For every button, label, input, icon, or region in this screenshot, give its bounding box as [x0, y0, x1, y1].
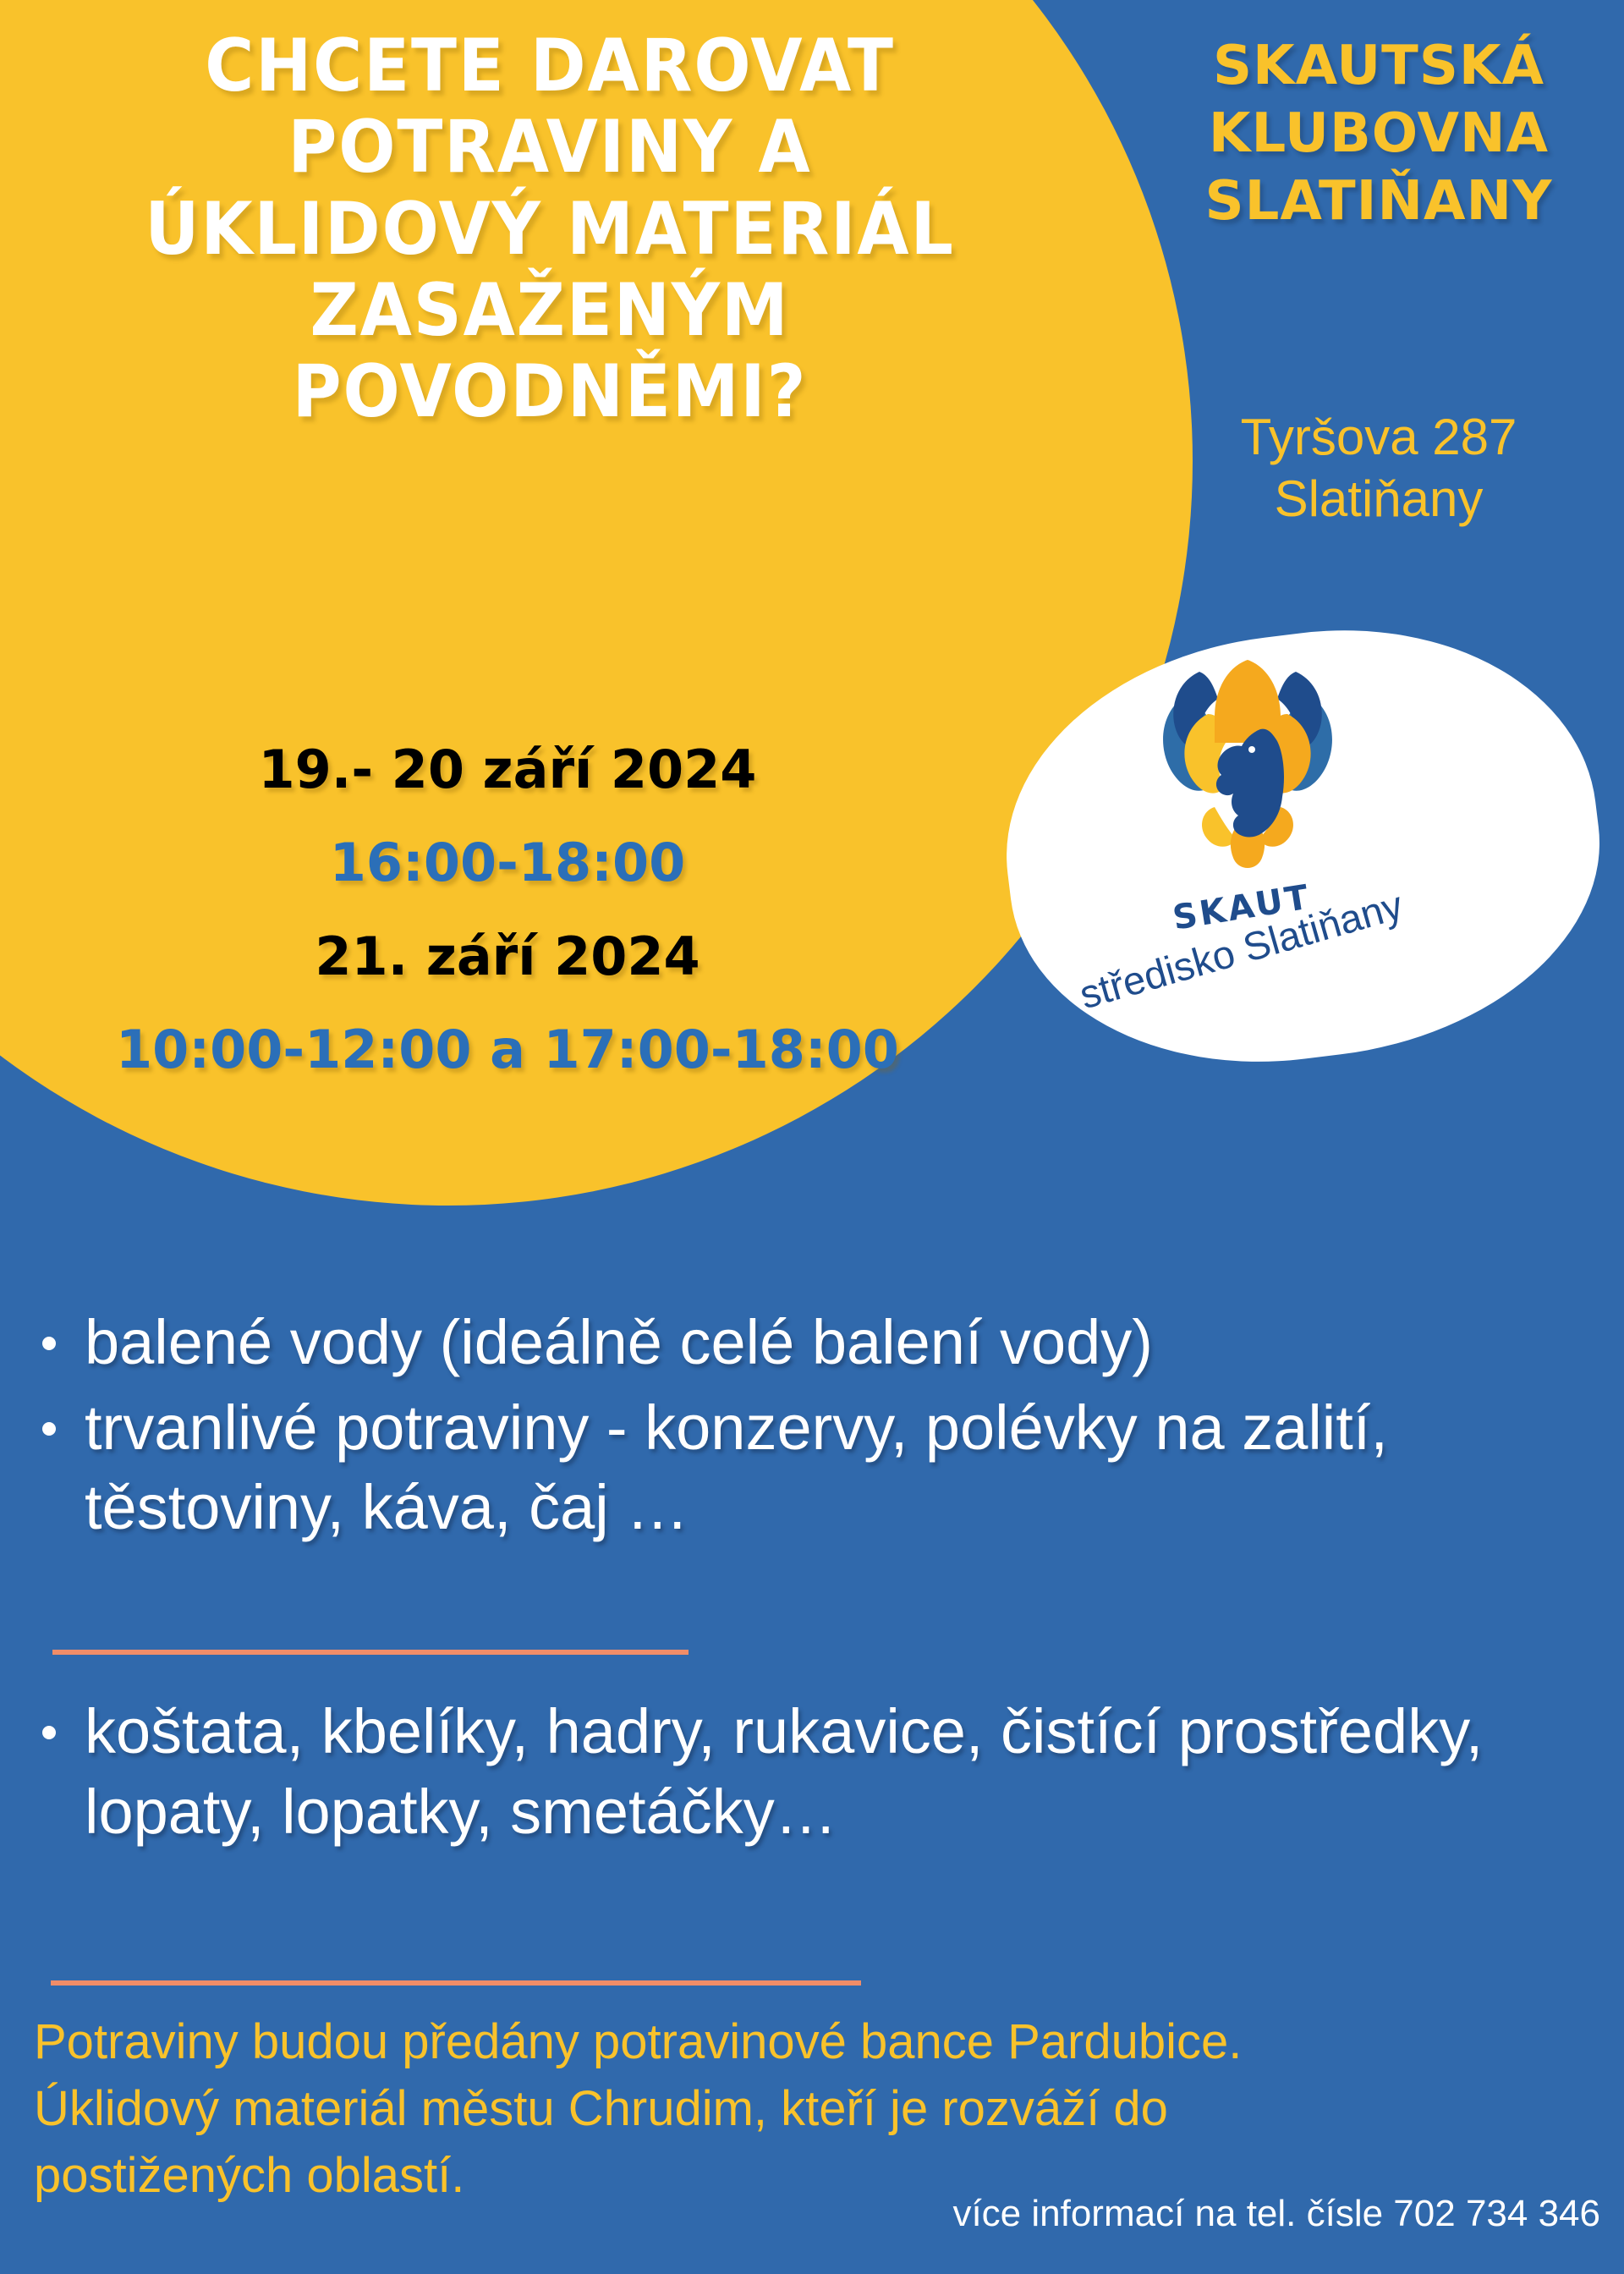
schedule-time-1: 16:00-18:00 — [0, 816, 1015, 909]
schedule-block: 19.- 20 září 2024 16:00-18:00 21. září 2… — [0, 723, 1015, 1096]
organization-address: Tyršova 287 Slatiňany — [1150, 406, 1607, 530]
divider — [52, 1650, 689, 1655]
footer-note-line-2: Úklidový materiál městu Chrudim, kteří j… — [34, 2076, 1616, 2143]
schedule-time-2: 10:00-12:00 a 17:00-18:00 — [0, 1003, 1015, 1096]
headline-line-2: POTRAVINY A — [44, 107, 1056, 188]
bullet-dot-icon — [42, 1726, 56, 1739]
organization-title-line-3: SLATIŇANY — [1150, 168, 1607, 235]
schedule-date-2: 21. září 2024 — [0, 910, 1015, 1003]
organization-title-line-1: SKAUTSKÁ — [1150, 32, 1607, 100]
cleaning-needs-list: koštata, kbelíky, hadry, rukavice, čistí… — [29, 1692, 1517, 1857]
list-item-label: koštata, kbelíky, hadry, rukavice, čistí… — [85, 1696, 1483, 1847]
list-item-label: trvanlivé potraviny - konzervy, polévky … — [85, 1392, 1388, 1543]
page-title: CHCETE DAROVAT POTRAVINY A ÚKLIDOVÝ MATE… — [0, 25, 1100, 433]
list-item: koštata, kbelíky, hadry, rukavice, čistí… — [29, 1692, 1517, 1852]
schedule-date-1: 19.- 20 září 2024 — [0, 723, 1015, 816]
list-item: trvanlivé potraviny - konzervy, polévky … — [29, 1388, 1517, 1548]
bullet-dot-icon — [42, 1337, 56, 1350]
headline-line-4: ZASAŽENÝM — [44, 270, 1056, 351]
address-street: Tyršova 287 — [1150, 406, 1607, 468]
address-city: Slatiňany — [1150, 468, 1607, 530]
food-needs-list: balené vody (ideálně celé balení vody) t… — [29, 1303, 1517, 1553]
headline-line-1: CHCETE DAROVAT — [44, 25, 1056, 107]
divider — [51, 1980, 861, 1986]
contact-phone: více informací na tel. čísle 702 734 346 — [952, 2193, 1600, 2235]
headline-line-3: ÚKLIDOVÝ MATERIÁL — [44, 189, 1056, 270]
headline-line-5: POVODNĚMI? — [44, 351, 1056, 432]
bullet-dot-icon — [42, 1422, 56, 1436]
organization-title: SKAUTSKÁ KLUBOVNA SLATIŇANY — [1150, 32, 1607, 235]
scout-logo-badge: SKAUT středisko Slatiňany — [1007, 634, 1599, 1057]
footer-note: Potraviny budou předány potravinové banc… — [34, 2009, 1616, 2210]
list-item: balené vody (ideálně celé balení vody) — [29, 1303, 1517, 1383]
organization-title-line-2: KLUBOVNA — [1150, 100, 1607, 168]
footer-note-line-1: Potraviny budou předány potravinové banc… — [34, 2009, 1616, 2076]
list-item-label: balené vody (ideálně celé balení vody) — [85, 1307, 1153, 1377]
poster-root: CHCETE DAROVAT POTRAVINY A ÚKLIDOVÝ MATE… — [0, 0, 1624, 2274]
scout-fleur-de-lis-icon — [1133, 651, 1362, 880]
